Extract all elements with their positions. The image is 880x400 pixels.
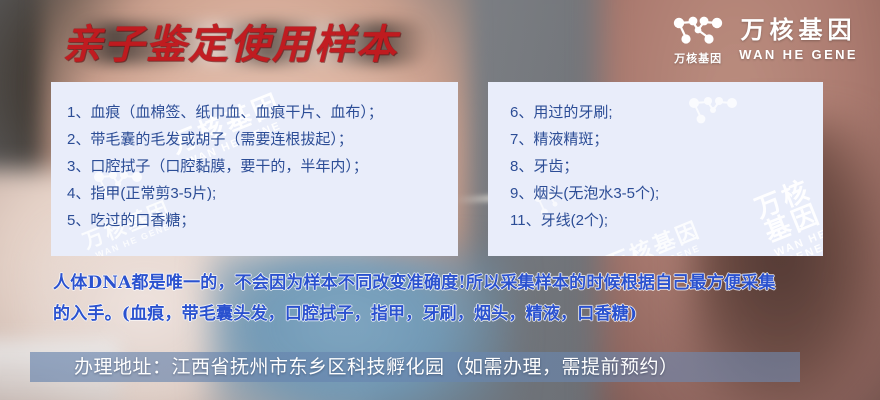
brand-logo: 万核基因 万核基因 WAN HE GENE: [671, 14, 858, 66]
brand-logo-mark-label: 万核基因: [674, 50, 722, 66]
list-item: 8、牙齿；: [510, 153, 823, 180]
brand-logo-mark: 万核基因: [671, 14, 725, 66]
brand-wordmark: 万核基因 WAN HE GENE: [739, 18, 858, 61]
molecule-node-icon: [671, 14, 725, 48]
note-line-1: 人体DNA都是唯一的，不会因为样本不同改变准确度!所以采集样本的时候根据自己最方…: [53, 268, 843, 299]
brand-name-en: WAN HE GENE: [739, 47, 858, 62]
sample-list-panel-left: 万核基因 WAN HE GENE 万核基因 WAN HE GENE: [51, 82, 458, 256]
list-item: 3、口腔拭子（口腔黏膜，要干的，半年内）；: [67, 153, 458, 180]
list-item: 5、吃过的口香糖；: [67, 207, 458, 234]
address-text: 办理地址：江西省抚州市东乡区科技孵化园（如需办理，需提前预约）: [74, 353, 679, 382]
list-item: 2、带毛囊的毛发或胡子（需要连根拔起）；: [67, 126, 458, 153]
sample-list-right: 6、用过的牙刷; 7、精液精斑； 8、牙齿； 9、烟头(无泡水3-5个); 11…: [488, 82, 823, 234]
watermark-en: WAN HE GENE: [613, 241, 708, 256]
list-item: 7、精液精斑；: [510, 126, 823, 153]
sample-list-panel-right: 万核基因 WAN HE GENE 万核基因 WAN HE GENE: [488, 82, 823, 256]
brand-name-cn: 万核基因: [741, 18, 857, 44]
page-title: 亲子鉴定使用样本: [62, 12, 398, 70]
note-paragraph: 人体DNA都是唯一的，不会因为样本不同改变准确度!所以采集样本的时候根据自己最方…: [53, 268, 843, 330]
list-item: 6、用过的牙刷;: [510, 99, 823, 126]
promo-banner: 亲子鉴定使用样本: [0, 0, 880, 400]
sample-list-left: 1、血痕（血棉签、纸巾血、血痕干片、血布）； 2、带毛囊的毛发或胡子（需要连根拔…: [51, 82, 458, 234]
list-item: 9、烟头(无泡水3-5个);: [510, 180, 823, 207]
note-line-2: 的入手。(血痕，带毛囊头发，口腔拭子，指甲，牙刷，烟头，精液，口香糖): [53, 299, 843, 330]
list-item: 11、牙线(2个);: [510, 207, 823, 234]
list-item: 4、指甲(正常剪3-5片);: [67, 180, 458, 207]
list-item: 1、血痕（血棉签、纸巾血、血痕干片、血布）；: [67, 99, 458, 126]
